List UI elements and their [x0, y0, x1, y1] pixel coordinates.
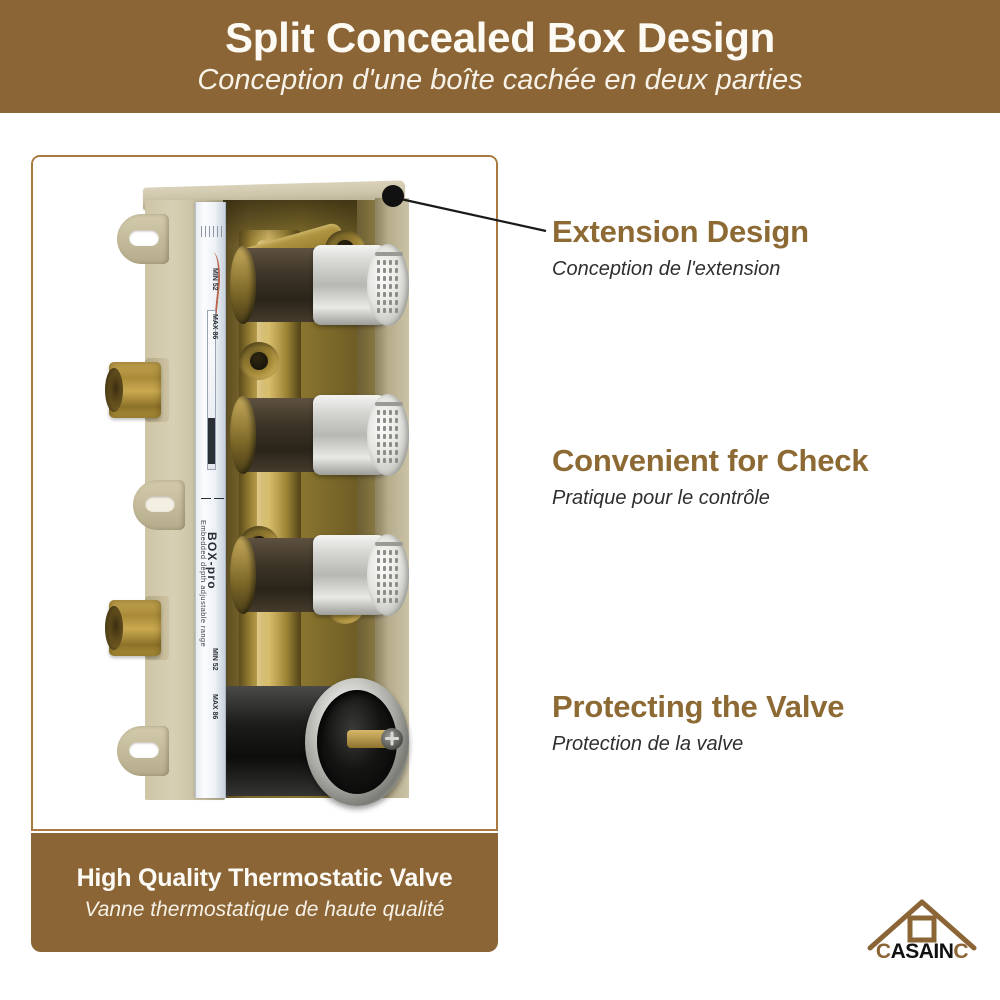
- feature-item-convenient-for-check: Convenient for Check Pratique pour le co…: [552, 444, 972, 510]
- valve-barrel-top: [239, 248, 411, 322]
- cartridge-screw: [381, 728, 403, 750]
- sticker-min-label: MIN 52: [211, 268, 218, 291]
- fitting-bore: [105, 368, 123, 412]
- chrome-cap-grid: [377, 258, 401, 316]
- caption-title: High Quality Thermostatic Valve: [77, 864, 453, 893]
- valve-assembly-illustration: MIN 52 MAX 86 BOX-pro Embedded depth adj…: [89, 170, 419, 820]
- logo-letter-first: C: [876, 940, 891, 963]
- sticker-arrow-row: [200, 494, 224, 504]
- mounting-lug: [133, 480, 185, 530]
- chrome-cap-slot: [375, 402, 403, 406]
- chrome-cap-slot: [375, 252, 403, 256]
- sticker-tick-marks: [199, 226, 225, 242]
- infographic-page: Split Concealed Box Design Conception d'…: [0, 0, 1000, 1000]
- feature-subtitle-french: Conception de l'extension: [552, 257, 972, 281]
- sticker-scale-fill: [208, 418, 215, 464]
- depth-range-sticker: MIN 52 MAX 86 BOX-pro Embedded depth adj…: [195, 202, 226, 798]
- brass-port: [239, 342, 279, 380]
- casainc-logo: CASAINC: [866, 896, 978, 970]
- valve-barrel-lower: [239, 538, 411, 612]
- caption-banner: High Quality Thermostatic Valve Vanne th…: [31, 833, 498, 952]
- feature-item-extension-design: Extension Design Conception de l'extensi…: [552, 215, 972, 281]
- feature-subtitle-french: Pratique pour le contrôle: [552, 486, 972, 510]
- chrome-cap-slot: [375, 542, 403, 546]
- feature-title: Extension Design: [552, 215, 972, 249]
- product-image-frame: MIN 52 MAX 86 BOX-pro Embedded depth adj…: [31, 155, 498, 831]
- logo-letters-middle: ASAIN: [891, 940, 954, 963]
- logo-wordmark: CASAINC: [866, 940, 978, 964]
- feature-title: Protecting the Valve: [552, 690, 972, 724]
- sticker-description-text: Embedded depth adjustable range: [199, 520, 208, 647]
- brass-hex-fitting-bottom: [105, 600, 163, 656]
- thermostatic-cartridge: [201, 678, 401, 806]
- mounting-lug: [117, 214, 169, 264]
- sticker-min-label: MIN 52: [211, 648, 218, 671]
- fitting-bore: [105, 606, 123, 650]
- valve-barrel-middle: [239, 398, 411, 472]
- feature-item-protecting-the-valve: Protecting the Valve Protection de la va…: [552, 690, 972, 756]
- feature-subtitle-french: Protection de la valve: [552, 732, 972, 756]
- chrome-cap-grid: [377, 408, 401, 466]
- mounting-lug: [117, 726, 169, 776]
- feature-title: Convenient for Check: [552, 444, 972, 478]
- page-subtitle-french: Conception d'une boîte cachée en deux pa…: [197, 64, 802, 97]
- sticker-max-label: MAX 86: [211, 314, 218, 339]
- brass-hex-fitting-top: [105, 362, 163, 418]
- sticker-max-label: MAX 86: [211, 694, 218, 719]
- caption-subtitle-french: Vanne thermostatique de haute qualité: [85, 898, 445, 922]
- product-photo: MIN 52 MAX 86 BOX-pro Embedded depth adj…: [33, 157, 496, 829]
- header-banner: Split Concealed Box Design Conception d'…: [0, 0, 1000, 113]
- chrome-cap-grid: [377, 548, 401, 606]
- logo-letter-last: C: [953, 940, 968, 963]
- page-title: Split Concealed Box Design: [225, 16, 775, 60]
